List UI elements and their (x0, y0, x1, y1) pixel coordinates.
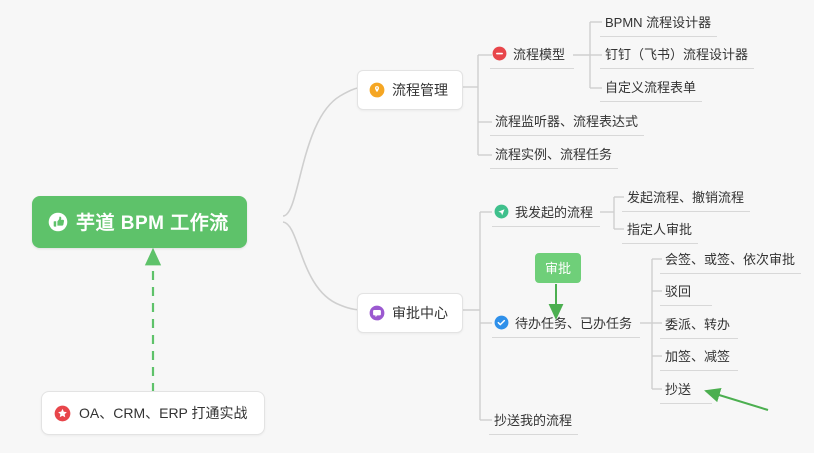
node-label: 钉钉（飞书）流程设计器 (605, 44, 748, 63)
edge-root-to-process-mgmt (283, 87, 366, 216)
node-approval-center[interactable]: 审批中心 (357, 293, 463, 333)
node-label: 流程管理 (392, 80, 448, 100)
node-label: 抄送我的流程 (494, 410, 572, 429)
root-node[interactable]: 芋道 BPM 工作流 (32, 196, 247, 248)
node-cc-to-me[interactable]: 抄送我的流程 (489, 407, 578, 435)
node-label: 会签、或签、依次审批 (665, 249, 795, 268)
node-my-initiated[interactable]: 我发起的流程 (492, 199, 600, 227)
node-cc[interactable]: 抄送 (660, 376, 712, 404)
location-pin-icon (369, 82, 385, 98)
node-label: 流程模型 (513, 44, 565, 63)
node-label: 抄送 (665, 379, 691, 398)
node-todo-done-tasks[interactable]: 待办任务、已办任务 (492, 310, 640, 338)
note-integration[interactable]: OA、CRM、ERP 打通实战 (41, 391, 265, 435)
check-circle-icon (494, 315, 509, 330)
message-circle-icon (369, 305, 385, 321)
node-label: 自定义流程表单 (605, 77, 696, 96)
edge-root-to-approval-center (283, 222, 366, 310)
node-start-cancel-flow[interactable]: 发起流程、撤销流程 (622, 184, 750, 212)
node-reject[interactable]: 驳回 (660, 278, 712, 306)
note-label: OA、CRM、ERP 打通实战 (79, 403, 248, 423)
tag-label: 审批 (545, 261, 571, 276)
node-delegate-transfer[interactable]: 委派、转办 (660, 311, 738, 339)
node-add-remove-sign[interactable]: 加签、减签 (660, 343, 738, 371)
node-label: 流程监听器、流程表达式 (495, 111, 638, 130)
node-label: 我发起的流程 (515, 202, 593, 221)
node-label: 流程实例、流程任务 (495, 144, 612, 163)
thumbs-up-icon (48, 212, 68, 232)
node-label: 审批中心 (392, 303, 448, 323)
node-label: BPMN 流程设计器 (605, 12, 711, 31)
minus-circle-icon (492, 46, 507, 61)
node-label: 委派、转办 (665, 314, 730, 333)
node-listener-expression[interactable]: 流程监听器、流程表达式 (490, 108, 644, 136)
cc-flow-arrow (706, 391, 768, 410)
node-label: 指定人审批 (627, 219, 692, 238)
tag-approve[interactable]: 审批 (535, 253, 581, 283)
node-process-management[interactable]: 流程管理 (357, 70, 463, 110)
node-custom-form[interactable]: 自定义流程表单 (600, 74, 702, 102)
node-dingtalk-designer[interactable]: 钉钉（飞书）流程设计器 (600, 41, 754, 69)
node-instance-task[interactable]: 流程实例、流程任务 (490, 141, 618, 169)
node-countersign[interactable]: 会签、或签、依次审批 (660, 246, 801, 274)
send-circle-icon (494, 204, 509, 219)
node-process-model[interactable]: 流程模型 (490, 41, 574, 69)
node-label: 加签、减签 (665, 346, 730, 365)
star-circle-icon (54, 405, 71, 422)
node-assignee-approval[interactable]: 指定人审批 (622, 216, 698, 244)
node-label: 待办任务、已办任务 (515, 313, 632, 332)
node-label: 发起流程、撤销流程 (627, 187, 744, 206)
mindmap-canvas: 芋道 BPM 工作流 流程管理 流程模型 BPMN 流程设计器 钉钉（飞书）流程… (0, 0, 814, 453)
root-label: 芋道 BPM 工作流 (76, 208, 229, 235)
node-bpmn-designer[interactable]: BPMN 流程设计器 (600, 9, 717, 37)
node-label: 驳回 (665, 281, 691, 300)
